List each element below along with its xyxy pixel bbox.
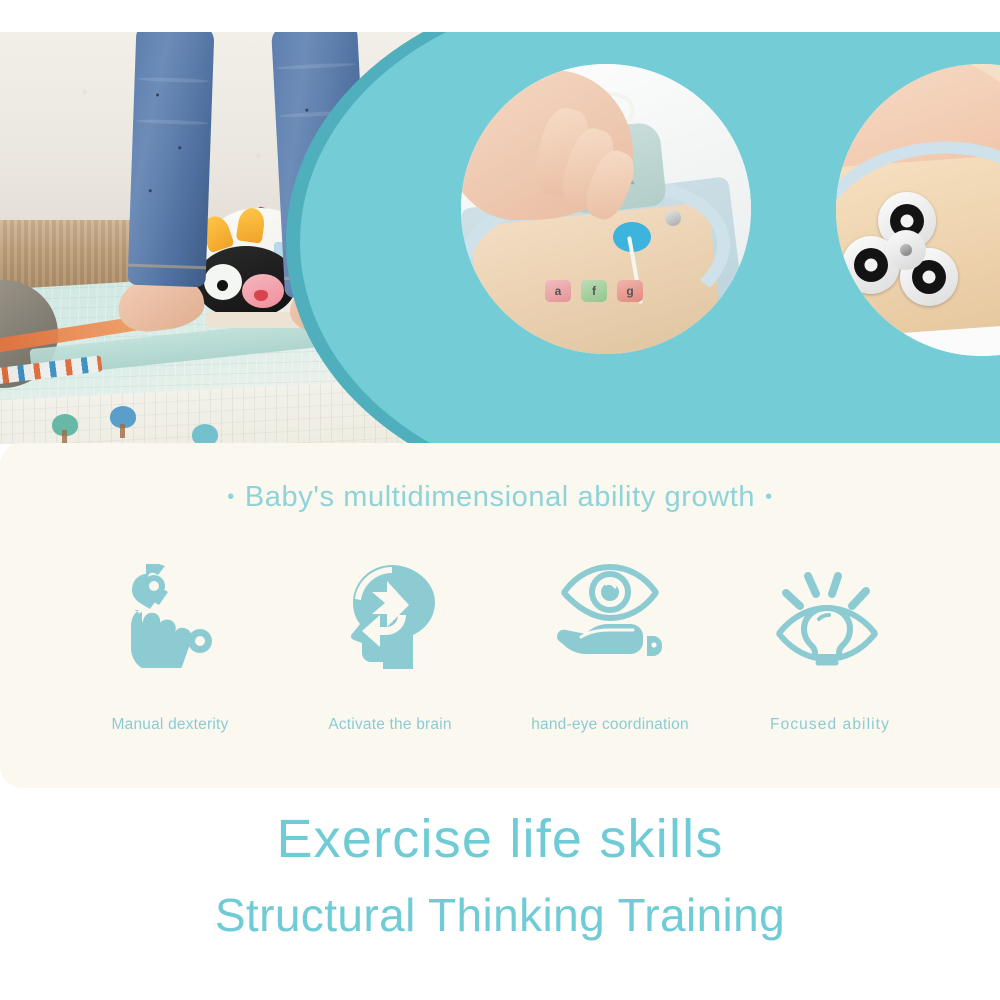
mat-tree — [192, 424, 218, 444]
hand-wrench-icon — [110, 556, 230, 676]
eye-lightbulb-rays-icon — [770, 556, 890, 676]
bullet-left: • — [217, 486, 245, 508]
headline-primary: Exercise life skills — [0, 808, 1000, 870]
toy-nose — [254, 290, 268, 301]
inset1-hand — [461, 70, 633, 220]
fidget-spinner — [842, 190, 970, 308]
inset-photo-busy-board: a f g — [461, 64, 751, 354]
bullet-right: • — [755, 486, 783, 508]
inset-photo-fidget-spinner — [836, 64, 1000, 356]
benefits-title: •Baby's multidimensional ability growth• — [0, 481, 1000, 514]
head-arrows-icon — [330, 556, 450, 676]
benefits-title-text: Baby's multidimensional ability growth — [245, 481, 755, 513]
feature-manual-dexterity: Manual dexterity — [60, 556, 280, 734]
mat-tree-trunk — [120, 424, 125, 438]
toy-pupil — [217, 280, 228, 291]
spinner-hub — [886, 230, 926, 270]
alphabet-bead: a — [545, 280, 571, 302]
feature-focused-ability: Focused ability — [720, 556, 940, 734]
alphabet-bead: g — [617, 280, 643, 302]
inset1-screw — [665, 210, 681, 226]
feature-label: hand-eye coordination — [531, 716, 689, 734]
hero-banner: a f g — [0, 32, 1000, 444]
mat-tree-trunk — [62, 430, 67, 444]
headline-secondary: Structural Thinking Training — [0, 888, 1000, 942]
feature-label: Focused ability — [770, 716, 890, 734]
benefits-feature-row: Manual dexterity Activate the brain — [60, 556, 940, 734]
feature-hand-eye-coordination: hand-eye coordination — [500, 556, 720, 734]
eye-over-hand-icon — [550, 556, 670, 676]
promo-page: a f g •Baby's multidimensional ability g… — [0, 0, 1000, 1000]
feature-activate-brain: Activate the brain — [280, 556, 500, 734]
feature-label: Activate the brain — [328, 716, 451, 734]
feature-label: Manual dexterity — [112, 716, 229, 734]
alphabet-bead: f — [581, 280, 607, 302]
child-leg-left — [127, 32, 214, 287]
